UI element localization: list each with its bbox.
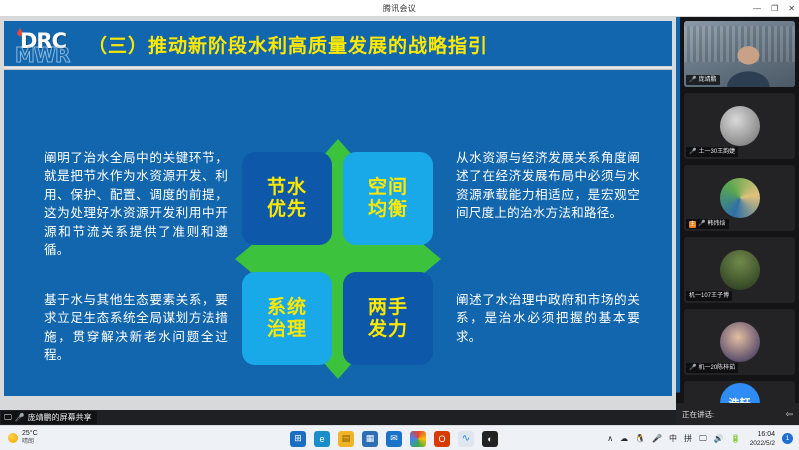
speaking-label: 正在讲话: [682, 409, 714, 420]
participant-rail: 🎤 庞靖鹏 🎤 土一30王韵婕 主 🎤 韩炜焓 [676, 17, 799, 425]
share-status-label: 庞靖鹏的屏幕共享 [28, 412, 92, 423]
participant-name-3: 机一107王子博 [689, 291, 729, 301]
quadrant-tr[interactable]: 空间 均衡 [343, 152, 433, 245]
office-icon[interactable]: O [434, 431, 450, 447]
participant-name-1: 土一30王韵婕 [698, 147, 735, 157]
quadrant-tr-line2: 均衡 [368, 199, 408, 221]
system-tray: ∧ ☁ 🐧 🎤 中 拼 🖵 🔊 🔋 16:04 2022/5/2 1 [607, 426, 793, 450]
chevron-right-icon[interactable]: ⇦ [785, 409, 793, 420]
participant-avatar-1 [720, 106, 760, 146]
ime-mode-indicator[interactable]: 拼 [684, 433, 692, 444]
participant-tile-0[interactable]: 🎤 庞靖鹏 [684, 21, 795, 87]
windows-taskbar: 25°C 晴朗 ⊞ e ▤ ▦ ✉ O ∿ ◐ ∧ ☁ 🐧 🎤 中 拼 🖵 🔊 … [0, 425, 799, 450]
participant-name-4: 机一20陈梓茹 [698, 363, 735, 373]
rail-edge-strip [676, 17, 680, 425]
app-icon[interactable]: ◐ [482, 431, 498, 447]
text-block-left-bottom: 基于水与其他生态要素关系，要求立足生态系统全局谋划方法措施，贯穿解决新老水问题全… [44, 291, 228, 365]
shared-screen-content: DRC MWR （三）推动新阶段水利高质量发展的战略指引 阐明了治水全局中的关键… [0, 17, 676, 410]
network-icon[interactable]: 🖵 [699, 434, 707, 444]
battery-icon[interactable]: 🔋 [731, 434, 741, 443]
quadrant-tl-line2: 优先 [267, 199, 307, 221]
four-quadrant-diagram: 节水 优先 空间 均衡 系统 治理 [235, 139, 441, 379]
shared-screen-area[interactable]: DRC MWR （三）推动新阶段水利高质量发展的战略指引 阐明了治水全局中的关键… [0, 17, 676, 425]
tencent-meeting-icon[interactable]: ∿ [458, 431, 474, 447]
quadrant-bl[interactable]: 系统 治理 [242, 272, 332, 365]
rail-footer: 正在讲话: ⇦ [676, 403, 799, 425]
quadrant-tr-line1: 空间 [368, 177, 408, 199]
participant-tile-4[interactable]: 🎤 机一20陈梓茹 [684, 309, 795, 375]
microphone-icon[interactable]: 🎤 [652, 434, 662, 443]
microphone-icon: 🎤 [689, 75, 696, 85]
mail-icon[interactable]: ✉ [386, 431, 402, 447]
cloud-icon[interactable]: ☁ [620, 434, 628, 443]
file-explorer-icon[interactable]: ▤ [338, 431, 354, 447]
participant-avatar-2 [720, 178, 760, 218]
taskbar-clock[interactable]: 16:04 2022/5/2 [748, 430, 775, 448]
quadrant-tl-line1: 节水 [267, 177, 307, 199]
participant-name-2: 韩炜焓 [708, 219, 726, 229]
microsoft-store-icon[interactable]: ▦ [362, 431, 378, 447]
slide-header-divider-inner [4, 70, 672, 72]
share-status-tag: 🖵 🎤 庞靖鹏的屏幕共享 [1, 411, 97, 424]
share-status-bar: 🖵 🎤 庞靖鹏的屏幕共享 [0, 410, 676, 425]
notification-badge[interactable]: 1 [782, 433, 793, 444]
sun-icon [8, 433, 18, 443]
minimize-button[interactable]: — [753, 5, 761, 13]
presentation-page: DRC MWR （三）推动新阶段水利高质量发展的战略指引 阐明了治水全局中的关键… [0, 17, 676, 410]
microphone-muted-icon: 🎤 [689, 363, 696, 373]
drc-mwr-logo: DRC MWR [12, 26, 80, 64]
screen-root: 腾讯会议 — ❐ ✕ DRC MWR [0, 0, 799, 450]
participant-avatar-3 [720, 250, 760, 290]
microphone-icon: 🎤 [15, 414, 25, 422]
microphone-muted-icon: 🎤 [689, 147, 696, 157]
meeting-window: DRC MWR （三）推动新阶段水利高质量发展的战略指引 阐明了治水全局中的关键… [0, 17, 799, 425]
tray-overflow-icon[interactable]: ∧ [607, 434, 613, 443]
text-block-right-top: 从水资源与经济发展关系角度阐述了在经济发展布局中必须与水资源承载能力相适应，是宏… [456, 149, 640, 223]
close-button[interactable]: ✕ [788, 5, 795, 13]
chrome-icon[interactable] [410, 431, 426, 447]
participant-name-badge-0: 🎤 庞靖鹏 [686, 75, 720, 85]
window-controls: — ❐ ✕ [753, 0, 795, 17]
logo-bottom-text: MWR [15, 43, 69, 67]
quadrant-br[interactable]: 两手 发力 [343, 272, 433, 365]
quadrant-tl[interactable]: 节水 优先 [242, 152, 332, 245]
slide-title: （三）推动新阶段水利高质量发展的战略指引 [88, 31, 488, 58]
clock-date: 2022/5/2 [750, 439, 775, 448]
qq-icon[interactable]: 🐧 [635, 434, 645, 443]
weather-temperature: 25°C [22, 429, 38, 438]
microphone-muted-icon: 🎤 [698, 219, 705, 229]
monitor-icon: 🖵 [4, 414, 12, 422]
volume-icon[interactable]: 🔊 [714, 434, 724, 443]
participant-name-badge-1: 🎤 土一30王韵婕 [686, 147, 738, 157]
slide: DRC MWR （三）推动新阶段水利高质量发展的战略指引 阐明了治水全局中的关键… [4, 21, 672, 396]
participant-name-badge-2: 主 🎤 韩炜焓 [686, 219, 729, 229]
clock-time: 16:04 [750, 430, 775, 439]
quadrant-br-line2: 发力 [368, 319, 408, 341]
host-badge-icon: 主 [689, 221, 696, 228]
start-button[interactable]: ⊞ [290, 431, 306, 447]
weather-condition: 晴朗 [22, 438, 38, 447]
participant-tile-3[interactable]: 机一107王子博 [684, 237, 795, 303]
participant-name-badge-4: 🎤 机一20陈梓茹 [686, 363, 738, 373]
maximize-button[interactable]: ❐ [771, 5, 778, 13]
window-title: 腾讯会议 [383, 3, 416, 14]
weather-widget[interactable]: 25°C 晴朗 [0, 429, 38, 447]
participant-name-badge-3: 机一107王子博 [686, 291, 732, 301]
quadrant-bl-line2: 治理 [267, 319, 307, 341]
participant-avatar-4 [720, 322, 760, 362]
text-block-right-bottom: 阐述了水治理中政府和市场的关系，是治水必须把握的基本要求。 [456, 291, 640, 346]
edge-icon[interactable]: e [314, 431, 330, 447]
quadrant-br-line1: 两手 [368, 297, 408, 319]
text-block-left-top: 阐明了治水全局中的关键环节，就是把节水作为水资源开发、利用、保护、配置、调度的前… [44, 149, 228, 259]
window-title-bar: 腾讯会议 — ❐ ✕ [0, 0, 799, 17]
participant-name-0: 庞靖鹏 [698, 75, 716, 85]
participant-tile-2[interactable]: 主 🎤 韩炜焓 [684, 165, 795, 231]
quadrant-bl-line1: 系统 [267, 297, 307, 319]
taskbar-app-icons: ⊞ e ▤ ▦ ✉ O ∿ ◐ [290, 426, 498, 450]
participant-tile-1[interactable]: 🎤 土一30王韵婕 [684, 93, 795, 159]
ime-language-indicator[interactable]: 中 [669, 433, 677, 444]
